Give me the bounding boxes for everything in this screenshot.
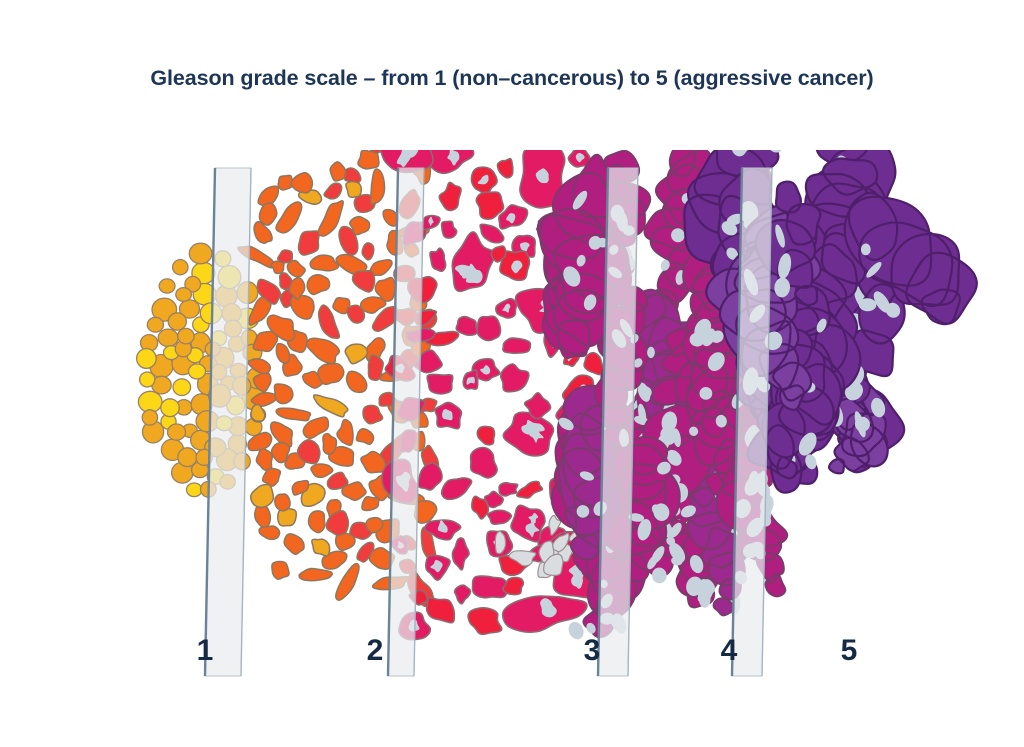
tissue-gland	[383, 210, 398, 227]
tissue-gland	[455, 585, 471, 604]
tissue-gland	[584, 353, 603, 375]
tissue-gland	[346, 181, 361, 197]
grade-label-5: 5	[841, 634, 858, 667]
tissue-gland	[256, 448, 272, 470]
grade-label-4: 4	[721, 634, 738, 667]
tissue-gland	[276, 408, 310, 421]
tissue-cell	[178, 448, 197, 467]
tissue-gland	[278, 250, 293, 263]
tissue-cell	[187, 483, 202, 497]
tissue-fragment	[495, 531, 505, 553]
tissue-gland	[251, 484, 274, 507]
tissue-gland	[503, 578, 524, 595]
tissue-gland	[291, 173, 312, 193]
tissue-gland	[263, 468, 281, 486]
tissue-cell	[161, 399, 179, 417]
tissue-gland	[324, 183, 342, 199]
tissue-gland	[307, 275, 329, 295]
tissue-gland	[488, 510, 511, 524]
gleason-grade-scale-figure: Gleason grade scale – from 1 (non–cancer…	[0, 0, 1024, 747]
tissue-gland	[439, 182, 461, 210]
tissue-gland	[501, 364, 529, 392]
tissue-gland	[442, 221, 457, 238]
tissue-cell	[173, 260, 188, 275]
tissue-cell	[159, 279, 175, 293]
gland-lumen	[647, 347, 655, 358]
tissue-gland	[259, 203, 276, 225]
tissue-gland	[346, 371, 366, 392]
tissue-cell	[137, 349, 157, 369]
tissue-gland	[499, 483, 518, 496]
tissue-gland	[353, 271, 375, 292]
tissue-gland	[468, 608, 502, 635]
tissue-gland	[456, 317, 477, 336]
tissue-gland	[287, 260, 305, 276]
tissue-gland	[291, 295, 314, 319]
tissue-gland	[511, 505, 545, 541]
tissue-gland	[272, 561, 289, 579]
tissue-gland	[284, 534, 304, 555]
gland-lumen	[432, 122, 439, 128]
tissue-cell	[178, 328, 194, 343]
tissue-gland	[308, 511, 325, 533]
tissue-gland	[274, 384, 292, 404]
tissue-gland	[452, 538, 469, 570]
tissue-gland	[356, 429, 373, 444]
tissue-gland	[318, 363, 344, 384]
tissue-gland	[427, 374, 453, 394]
tissue-gland	[251, 405, 265, 422]
tissue-gland	[418, 463, 442, 490]
tissue-gland	[272, 442, 290, 462]
tissue-gland	[477, 426, 494, 444]
tissue-gland	[503, 338, 531, 353]
tissue-gland	[430, 248, 446, 271]
tissue-gland	[427, 118, 445, 134]
tissue-cell	[173, 379, 191, 396]
tissue-cell	[176, 288, 192, 302]
tissue-gland	[298, 231, 319, 255]
tissue-cell	[147, 317, 163, 332]
tissue-gland	[426, 598, 454, 623]
grade-label-2: 2	[367, 634, 384, 667]
tissue-cell	[189, 364, 206, 379]
tissue-cell	[168, 313, 186, 330]
tissue-gland	[311, 464, 333, 477]
tissue-gland	[314, 395, 348, 417]
tissue-gland	[276, 344, 289, 364]
tissue-gland	[299, 569, 332, 581]
tissue-gland	[361, 297, 386, 313]
tissue-gland	[473, 576, 508, 598]
tissue-gland	[310, 255, 338, 271]
tissue-gland	[323, 434, 337, 455]
tissue-gland	[471, 447, 498, 478]
tissue-gland	[363, 405, 383, 423]
tissue-gland	[275, 494, 290, 511]
tissue-gland	[330, 162, 346, 181]
tissue-cell	[158, 329, 178, 346]
grade-label-1: 1	[197, 634, 214, 667]
tissue-gland	[259, 526, 279, 539]
tissue-gland	[517, 481, 543, 498]
tissue-gland	[276, 202, 302, 233]
gleason-illustration: 12345	[0, 0, 1024, 747]
tissue-gland	[371, 169, 385, 204]
tissue-cell	[142, 410, 157, 425]
tissue-gland	[337, 420, 353, 446]
grade-1-zone	[137, 243, 271, 497]
tissue-gland	[345, 344, 367, 364]
tissue-cell	[189, 243, 212, 264]
tissue-gland	[362, 243, 374, 260]
grade-label-3: 3	[584, 634, 601, 667]
tissue-gland	[477, 316, 501, 340]
tissue-gland	[336, 564, 359, 601]
tissue-gland	[497, 159, 512, 178]
tissue-gland	[362, 497, 379, 511]
tissue-cell	[168, 424, 186, 440]
tissue-gland	[368, 355, 383, 380]
microscope-slide	[205, 168, 251, 676]
tissue-cell	[140, 372, 155, 387]
tissue-gland	[307, 338, 340, 363]
tissue-gland	[442, 478, 472, 499]
tissue-gland	[312, 539, 330, 556]
